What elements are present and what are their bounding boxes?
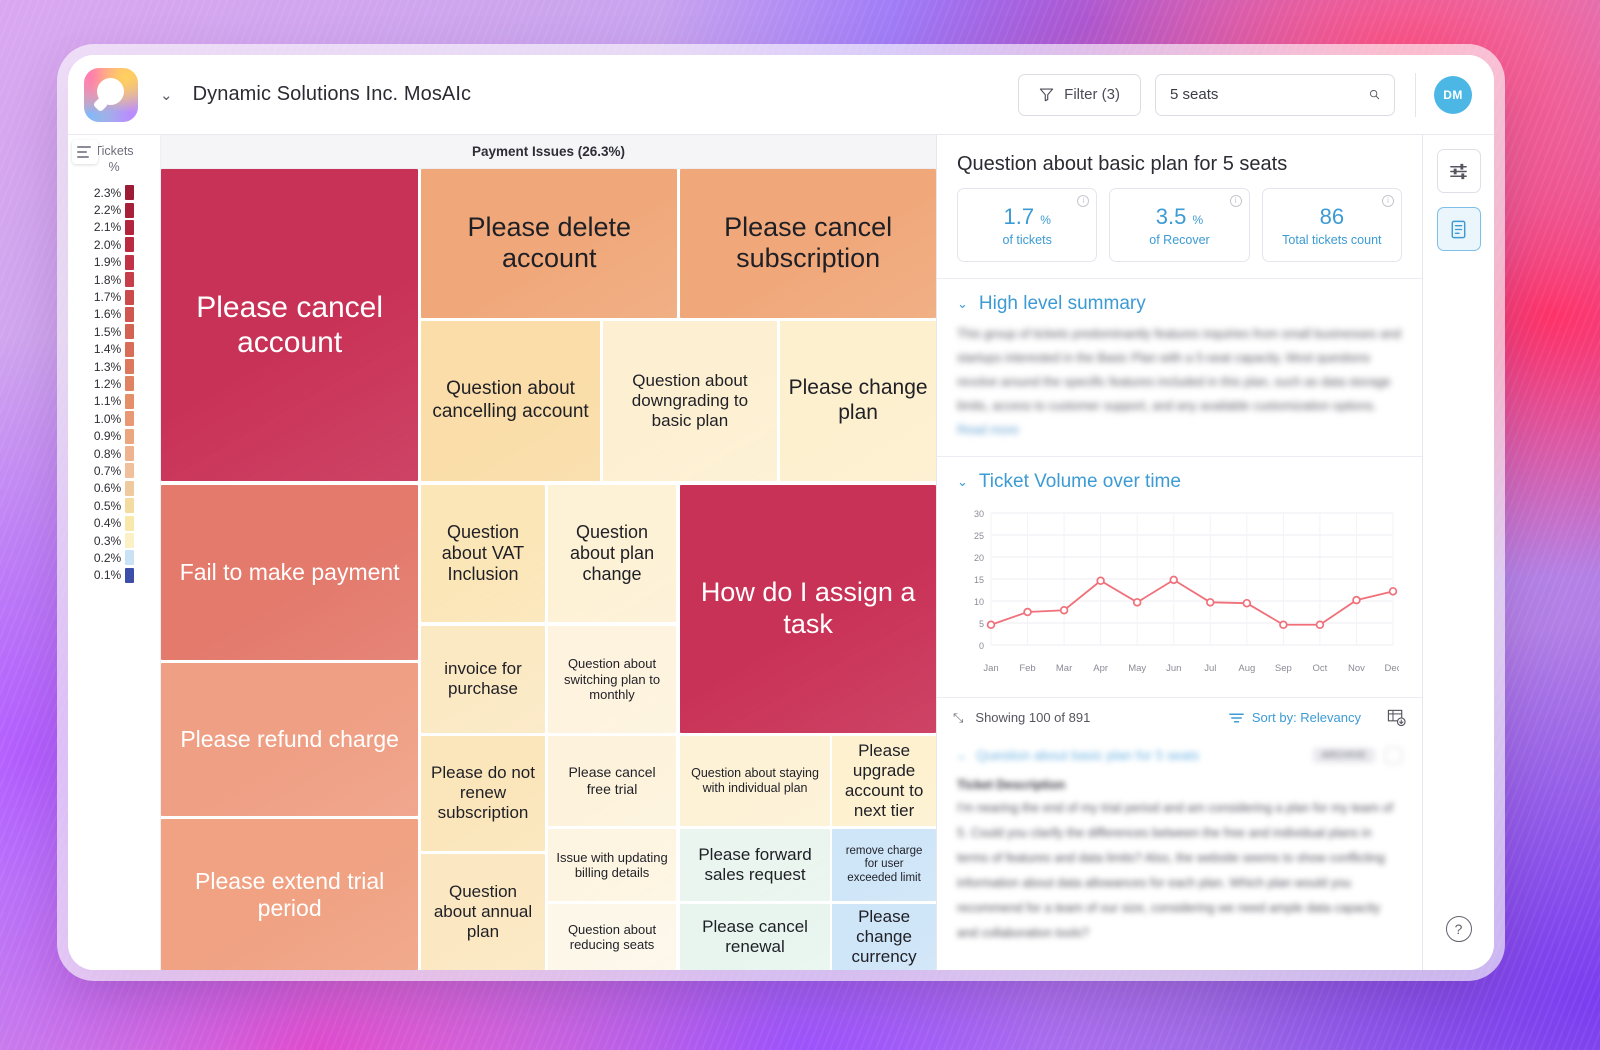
legend-stop: 0.4%: [94, 514, 134, 531]
legend-stop-label: 0.7%: [94, 464, 121, 478]
topbar-divider: [1415, 73, 1416, 117]
top-bar: ⌄ Dynamic Solutions Inc. MosAIc Filter (…: [68, 55, 1494, 135]
legend-stop-swatch: [125, 394, 134, 409]
funnel-icon: [1039, 87, 1054, 102]
legend-stop-swatch: [125, 203, 134, 218]
treemap-cell-label: Please delete account: [428, 212, 670, 276]
legend-stop: 2.2%: [94, 201, 134, 218]
y-tick-label: 5: [979, 619, 984, 629]
chevron-down-icon[interactable]: ⌄: [957, 296, 968, 312]
app-window: ⌄ Dynamic Solutions Inc. MosAIc Filter (…: [68, 55, 1494, 970]
document-panel-button[interactable]: [1437, 207, 1481, 251]
legend-stop: 1.0%: [94, 410, 134, 427]
treemap-cell-please-delete-account[interactable]: Please delete account: [421, 169, 677, 318]
treemap-cell-label: Please cancel account: [168, 290, 411, 361]
workspace-chevron-down-icon[interactable]: ⌄: [160, 86, 173, 104]
detail-title: Question about basic plan for 5 seats: [937, 135, 1422, 188]
legend-stop-label: 1.1%: [94, 394, 121, 408]
legend-stop-swatch: [125, 533, 134, 548]
treemap-cell-label: Please cancel free trial: [555, 764, 670, 797]
legend-stop-label: 0.9%: [94, 429, 121, 443]
legend-stop: 1.9%: [94, 254, 134, 271]
treemap[interactable]: Please cancel accountPlease delete accou…: [161, 169, 936, 970]
legend-stop-label: 1.5%: [94, 325, 121, 339]
treemap-cell-label: Please do not renew subscription: [428, 763, 537, 823]
legend-stop: 1.1%: [94, 393, 134, 410]
legend-stop-swatch: [125, 324, 134, 339]
series-point[interactable]: [1170, 576, 1177, 583]
info-icon[interactable]: i: [1230, 195, 1242, 207]
treemap-cell-please-change-plan[interactable]: Please change plan: [780, 321, 936, 480]
legend-stop-label: 1.0%: [94, 412, 121, 426]
x-tick-label: Nov: [1348, 663, 1365, 674]
legend-stop-label: 0.8%: [94, 447, 121, 461]
magnifier-logo-icon: [84, 68, 138, 122]
treemap-cell-please-extend-trial-period[interactable]: Please extend trial period: [161, 819, 418, 970]
series-point[interactable]: [1280, 621, 1287, 628]
info-icon[interactable]: i: [1382, 195, 1394, 207]
app-body: Tickets % 2.3%2.2%2.1%2.0%1.9%1.8%1.7%1.…: [68, 135, 1494, 970]
high-level-summary-header[interactable]: ⌄ High level summary: [957, 293, 1402, 315]
legend-stop-swatch: [125, 342, 134, 357]
legend-stop: 0.9%: [94, 427, 134, 444]
x-tick-label: May: [1128, 663, 1146, 674]
series-point[interactable]: [1024, 609, 1031, 616]
legend-stop: 1.3%: [94, 358, 134, 375]
y-tick-label: 10: [974, 597, 984, 607]
treemap-cell-label: Please change plan: [787, 376, 929, 426]
x-tick-label: Dec: [1385, 663, 1399, 674]
treemap-cell-please-refund-charge[interactable]: Please refund charge: [161, 663, 418, 816]
legend-scale: 2.3%2.2%2.1%2.0%1.9%1.8%1.7%1.6%1.5%1.4%…: [94, 184, 134, 584]
high-level-summary-label: High level summary: [979, 293, 1146, 315]
ticket-description-label: Ticket Description: [957, 778, 1402, 792]
chevron-down-icon[interactable]: ⌄: [957, 474, 968, 490]
high-level-summary-section: ⌄ High level summary This group of ticke…: [937, 278, 1422, 456]
legend-stop: 0.1%: [94, 567, 134, 584]
legend-stop-swatch: [125, 376, 134, 391]
legend-stop-label: 2.0%: [94, 238, 121, 252]
legend-stop-swatch: [125, 185, 134, 200]
series-point[interactable]: [1390, 588, 1397, 595]
avatar[interactable]: DM: [1434, 76, 1472, 114]
search-input[interactable]: [1170, 86, 1369, 103]
showing-count-label: Showing 100 of 891: [975, 710, 1090, 725]
kpi-total-tickets[interactable]: i 86 Total tickets count: [1262, 188, 1402, 262]
ticket-volume-section: ⌄ Ticket Volume over time 051015202530Ja…: [937, 456, 1422, 697]
ticket-description: Ticket Description I'm nearing the end o…: [957, 778, 1402, 946]
treemap-cell-label: invoice for purchase: [428, 659, 537, 699]
treemap-cell-label: Fail to make payment: [180, 559, 400, 586]
settings-sliders-icon: [1448, 161, 1469, 182]
treemap-cell-question-about-reducing-seats[interactable]: Question about reducing seats: [548, 904, 677, 970]
legend-stop: 1.6%: [94, 306, 134, 323]
copy-icon[interactable]: [1385, 747, 1402, 764]
treemap-cell-label: Please upgrade account to next tier: [839, 741, 929, 821]
x-tick-label: Oct: [1313, 663, 1328, 674]
legend-stop: 1.2%: [94, 375, 134, 392]
kpi-of-tickets[interactable]: i 1.7 % of tickets: [957, 188, 1097, 262]
treemap-cell-label: remove charge for user exceeded limit: [839, 845, 929, 886]
legend-title-line2: %: [94, 159, 133, 175]
series-line: [991, 580, 1393, 625]
legend-stop: 1.7%: [94, 288, 134, 305]
legend-stop: 1.4%: [94, 341, 134, 358]
series-point[interactable]: [1134, 599, 1141, 606]
legend-stop: 0.6%: [94, 480, 134, 497]
expand-collapse-icon[interactable]: ⤡: [953, 710, 963, 726]
legend-stop-label: 0.1%: [94, 568, 121, 582]
settings-sliders-button[interactable]: [1437, 149, 1481, 193]
series-point[interactable]: [1317, 621, 1324, 628]
info-icon[interactable]: i: [1077, 195, 1089, 207]
x-tick-label: Mar: [1056, 663, 1072, 674]
kpi-total-tickets-caption: Total tickets count: [1282, 233, 1381, 247]
document-panel-icon: [1448, 219, 1469, 240]
legend-stop: 0.5%: [94, 497, 134, 514]
x-tick-label: Sep: [1275, 663, 1292, 674]
legend-stop-swatch: [125, 237, 134, 252]
help-circle-icon[interactable]: ?: [1446, 916, 1472, 942]
legend-stop-swatch: [125, 481, 134, 496]
treemap-cell-label: Question about annual plan: [428, 882, 537, 942]
legend-stop-label: 2.1%: [94, 220, 121, 234]
legend-stop-swatch: [125, 516, 134, 531]
treemap-cell-label: Question about reducing seats: [555, 922, 670, 953]
legend-stop-swatch: [125, 550, 134, 565]
read-more-link[interactable]: Read more: [957, 418, 1402, 442]
treemap-cell-please-do-not-renew-subscription[interactable]: Please do not renew subscription: [421, 736, 544, 851]
kpi-of-recover-caption: of Recover: [1149, 233, 1209, 247]
legend-stop-swatch: [125, 446, 134, 461]
treemap-cell-label: Please extend trial period: [168, 868, 411, 922]
legend-stop-swatch: [125, 568, 134, 583]
search-icon[interactable]: [1369, 86, 1380, 103]
treemap-header: Payment Issues (26.3%): [161, 135, 936, 169]
legend-stop-label: 0.4%: [94, 516, 121, 530]
ticket-list-item-header[interactable]: ⌄ Question about basic plan for 5 seats …: [957, 747, 1402, 764]
treemap-cell-please-cancel-subscription[interactable]: Please cancel subscription: [680, 169, 936, 318]
legend-stop-label: 1.8%: [94, 273, 121, 287]
ticket-description-text: I'm nearing the end of my trial period a…: [957, 796, 1402, 946]
ticket-volume-header[interactable]: ⌄ Ticket Volume over time: [957, 471, 1402, 493]
legend-stop: 0.3%: [94, 532, 134, 549]
ticket-volume-chart: 051015202530JanFebMarAprMayJunJulAugSepO…: [957, 503, 1402, 683]
export-table-icon[interactable]: [1387, 708, 1406, 727]
kpi-of-tickets-value: 1.7: [1003, 204, 1034, 229]
treemap-cell-label: Question about plan change: [555, 522, 670, 586]
legend-stop: 2.1%: [94, 219, 134, 236]
filter-button[interactable]: Filter (3): [1018, 74, 1141, 116]
legend-stop-swatch: [125, 220, 134, 235]
treemap-cell-label: Please forward sales request: [687, 845, 823, 885]
series-point[interactable]: [1061, 607, 1068, 614]
treemap-cell-label: Please cancel subscription: [687, 212, 929, 276]
treemap-cell-remove-charge-user-exceeded-limit[interactable]: remove charge for user exceeded limit: [832, 829, 936, 901]
legend-stop-label: 1.2%: [94, 377, 121, 391]
series-point[interactable]: [1207, 599, 1214, 606]
treemap-cell-question-about-cancelling-account[interactable]: Question about cancelling account: [421, 321, 599, 480]
legend-title: Tickets %: [94, 143, 133, 175]
kpi-of-recover-value: 3.5: [1156, 204, 1187, 229]
legend-stop-label: 1.3%: [94, 360, 121, 374]
legend-stop-swatch: [125, 290, 134, 305]
legend-stop-swatch: [125, 359, 134, 374]
kpi-row: i 1.7 % of tickets i 3.5 % of Recover i …: [937, 188, 1422, 278]
legend-toggle-icon[interactable]: [72, 140, 98, 164]
x-tick-label: Jun: [1166, 663, 1181, 674]
treemap-cell-issue-with-updating-billing[interactable]: Issue with updating billing details: [548, 829, 677, 901]
treemap-cell-label: Question about downgrading to basic plan: [610, 371, 770, 431]
tool-rail: ?: [1422, 135, 1494, 970]
y-tick-label: 30: [974, 509, 984, 519]
legend-stop-label: 0.6%: [94, 481, 121, 495]
legend-stop: 0.7%: [94, 462, 134, 479]
treemap-cell-please-change-currency[interactable]: Please change currency: [832, 904, 936, 970]
legend-stop-label: 1.6%: [94, 307, 121, 321]
treemap-cell-please-cancel-renewal[interactable]: Please cancel renewal: [680, 904, 830, 970]
sort-button-label: Sort by: Relevancy: [1252, 710, 1361, 725]
treemap-cell-question-about-switching-monthly[interactable]: Question about switching plan to monthly: [548, 626, 677, 733]
x-tick-label: Apr: [1093, 663, 1108, 674]
treemap-cell-label: Please refund charge: [180, 726, 399, 753]
legend-rail: Tickets % 2.3%2.2%2.1%2.0%1.9%1.8%1.7%1.…: [68, 135, 160, 970]
ticket-title-link[interactable]: Question about basic plan for 5 seats: [976, 748, 1199, 763]
treemap-cell-label: How do I assign a task: [687, 577, 929, 641]
detail-panel: Question about basic plan for 5 seats i …: [936, 135, 1422, 970]
legend-stop-swatch: [125, 255, 134, 270]
series-point[interactable]: [1353, 597, 1360, 604]
legend-stop-label: 0.3%: [94, 534, 121, 548]
kpi-of-recover-unit: %: [1193, 213, 1204, 227]
treemap-cell-label: Issue with updating billing details: [555, 850, 670, 881]
treemap-cell-label: Please change currency: [839, 907, 929, 967]
legend-stop-label: 1.7%: [94, 290, 121, 304]
sort-icon: [1229, 712, 1244, 724]
legend-stop-label: 2.3%: [94, 186, 121, 200]
treemap-panel: Payment Issues (26.3%) Please cancel acc…: [160, 135, 936, 970]
treemap-cell-question-about-plan-change[interactable]: Question about plan change: [548, 485, 677, 623]
kpi-of-tickets-unit: %: [1040, 213, 1051, 227]
treemap-cell-please-cancel-account[interactable]: Please cancel account: [161, 169, 418, 481]
legend-stop-swatch: [125, 463, 134, 478]
treemap-cell-question-about-downgrading[interactable]: Question about downgrading to basic plan: [603, 321, 777, 480]
legend-stop-swatch: [125, 498, 134, 513]
legend-stop-swatch: [125, 307, 134, 322]
treemap-cell-please-forward-sales-request[interactable]: Please forward sales request: [680, 829, 830, 901]
series-point[interactable]: [1097, 577, 1104, 584]
y-tick-label: 15: [974, 575, 984, 585]
treemap-cell-question-about-vat-inclusion[interactable]: Question about VAT Inclusion: [421, 485, 544, 623]
treemap-cell-please-upgrade-account-next-tier[interactable]: Please upgrade account to next tier: [832, 736, 936, 826]
legend-stop-label: 0.2%: [94, 551, 121, 565]
legend-stop-swatch: [125, 429, 134, 444]
legend-stop-swatch: [125, 411, 134, 426]
page-title: Dynamic Solutions Inc. MosAIc: [193, 83, 472, 106]
legend-title-line1: Tickets: [94, 143, 133, 159]
y-tick-label: 25: [974, 531, 984, 541]
treemap-cell-label: Question about switching plan to monthly: [555, 656, 670, 702]
legend-stop-label: 1.4%: [94, 342, 121, 356]
treemap-cell-label: Question about cancelling account: [428, 378, 592, 423]
legend-stop: 2.0%: [94, 236, 134, 253]
series-point[interactable]: [1243, 600, 1250, 607]
treemap-cell-question-about-staying-individual[interactable]: Question about staying with individual p…: [680, 736, 830, 826]
x-tick-label: Feb: [1019, 663, 1035, 674]
kpi-of-recover[interactable]: i 3.5 % of Recover: [1109, 188, 1249, 262]
legend-stop: 0.8%: [94, 445, 134, 462]
search-box[interactable]: [1155, 74, 1395, 116]
chevron-down-icon[interactable]: ⌄: [957, 749, 966, 762]
treemap-cell-label: Please cancel renewal: [687, 917, 823, 957]
treemap-cell-invoice-for-purchase[interactable]: invoice for purchase: [421, 626, 544, 733]
legend-stop-label: 2.2%: [94, 203, 121, 217]
filter-button-label: Filter (3): [1064, 86, 1120, 103]
legend-stop: 1.8%: [94, 271, 134, 288]
high-level-summary-body: This group of tickets predominantly feat…: [957, 322, 1402, 442]
legend-stop-label: 1.9%: [94, 255, 121, 269]
x-tick-label: Aug: [1238, 663, 1255, 674]
x-tick-label: Jul: [1204, 663, 1216, 674]
legend-stop-label: 0.5%: [94, 499, 121, 513]
treemap-cell-question-about-annual-plan[interactable]: Question about annual plan: [421, 854, 544, 970]
y-tick-label: 0: [979, 641, 984, 651]
treemap-cell-label: Question about VAT Inclusion: [428, 522, 537, 586]
treemap-cell-fail-to-make-payment[interactable]: Fail to make payment: [161, 485, 418, 660]
ticket-list[interactable]: ⌄ Question about basic plan for 5 seats …: [937, 737, 1422, 970]
legend-stop: 2.3%: [94, 184, 134, 201]
legend-stop: 0.2%: [94, 549, 134, 566]
kpi-total-tickets-value: 86: [1320, 204, 1344, 229]
treemap-cell-label: Question about staying with individual p…: [687, 766, 823, 796]
ticket-list-toolbar: ⤡ Showing 100 of 891 Sort by: Relevancy: [937, 697, 1422, 737]
sort-button[interactable]: Sort by: Relevancy: [1229, 710, 1361, 725]
ticket-volume-label: Ticket Volume over time: [979, 471, 1181, 493]
kpi-of-tickets-caption: of tickets: [1003, 233, 1052, 247]
treemap-cell-how-do-i-assign-a-task[interactable]: How do I assign a task: [680, 485, 936, 733]
legend-stop: 1.5%: [94, 323, 134, 340]
y-tick-label: 20: [974, 553, 984, 563]
status-badge: ARCHIVE: [1313, 748, 1375, 763]
treemap-cell-please-cancel-free-trial[interactable]: Please cancel free trial: [548, 736, 677, 826]
legend-stop-swatch: [125, 272, 134, 287]
series-point[interactable]: [988, 621, 995, 628]
x-tick-label: Jan: [983, 663, 998, 674]
